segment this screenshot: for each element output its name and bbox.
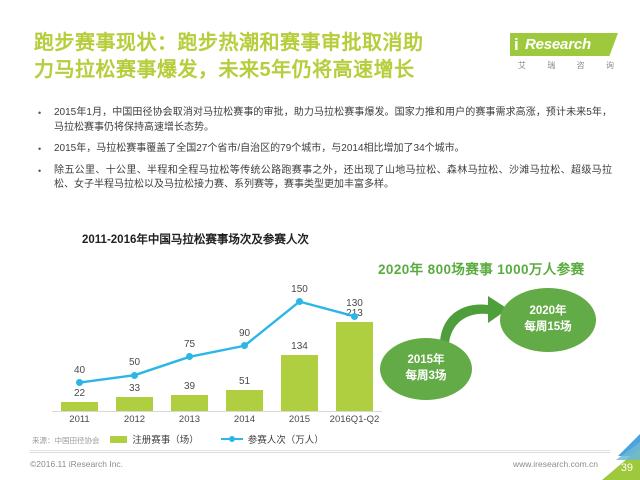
chart-line-value-label: 150 [291, 284, 308, 295]
logo-letter-i: i [514, 34, 519, 55]
chart-title: 2011-2016年中国马拉松赛事场次及参赛人次 [82, 231, 309, 247]
chart-line-point-2011 [76, 379, 83, 386]
bullet-item: • 2015年1月，中国田径协会取消对马拉松赛事的审批，助力马拉松赛事爆发。国家… [34, 106, 612, 135]
callout-oval-2015: 2015年 每周3场 [380, 338, 472, 400]
footer-website-link[interactable]: www.iresearch.com.cn [513, 459, 598, 469]
oval-2015-line-1: 2015年 [407, 353, 444, 369]
bullet-marker-icon: • [34, 142, 54, 157]
legend-bar-label: 注册赛事（场） [132, 432, 199, 446]
legend-line-swatch-icon [221, 436, 243, 443]
chart-divider [30, 450, 610, 451]
chart-x-tick-2012: 2012 [105, 414, 165, 425]
logo-cn-char-2: 瑞 [547, 60, 555, 71]
chart-line-point-2016Q1-Q2 [351, 313, 358, 320]
footer-copyright: ©2016.11 iResearch Inc. [30, 459, 123, 469]
slide-header: 跑步赛事现状：跑步热潮和赛事审批取消助 力马拉松赛事爆发，未来5年仍将高速增长 … [0, 0, 640, 92]
chart-line-point-2012 [131, 372, 138, 379]
corner-decoration-icon [594, 434, 640, 480]
logo-cn-char-3: 咨 [577, 60, 585, 71]
chart-x-tick-2016Q1-Q2: 2016Q1-Q2 [325, 414, 385, 425]
chart-x-tick-2014: 2014 [215, 414, 275, 425]
logo-wordmark: Research [525, 35, 591, 54]
logo-mark: i Research [510, 33, 618, 56]
chart-legend: 注册赛事（场） 参赛人次（万人） [52, 432, 382, 446]
bullet-marker-icon: • [34, 106, 54, 135]
chart-x-tick-2011: 2011 [50, 414, 110, 425]
legend-bar-swatch-icon [110, 436, 127, 443]
callout-headline: 2020年 800场赛事 1000万人参赛 [378, 258, 618, 278]
chart-line-value-label: 40 [74, 365, 85, 376]
bullet-list: • 2015年1月，中国田径协会取消对马拉松赛事的审批，助力马拉松赛事爆发。国家… [34, 106, 612, 200]
page-title-line-1: 跑步赛事现状：跑步热潮和赛事审批取消助 [34, 30, 504, 57]
page-number: 39 [621, 462, 633, 474]
chart-line-value-label: 90 [239, 328, 250, 339]
oval-2015-line-2: 每周3场 [406, 369, 447, 385]
page-title: 跑步赛事现状：跑步热潮和赛事审批取消助 力马拉松赛事爆发，未来5年仍将高速增长 [34, 30, 504, 84]
bullet-text: 2015年1月，中国田径协会取消对马拉松赛事的审批，助力马拉松赛事爆发。国家力推… [54, 106, 612, 135]
logo-chinese-name: 艾 瑞 咨 询 [518, 60, 614, 71]
callout-oval-2020: 2020年 每周15场 [500, 288, 596, 352]
chart-plot-area: 22333951134213 40507590150130 [52, 252, 382, 412]
legend-item-bar[interactable]: 注册赛事（场） [110, 432, 199, 446]
iresearch-logo: i Research 艾 瑞 咨 询 [510, 33, 618, 75]
oval-2020-line-2: 每周15场 [524, 320, 571, 336]
chart-line-value-label: 75 [184, 339, 195, 350]
chart-x-tick-2013: 2013 [160, 414, 220, 425]
chart-x-tick-2015: 2015 [270, 414, 330, 425]
bullet-item: • 2015年，马拉松赛事覆盖了全国27个省市/自治区的79个城市，与2014相… [34, 142, 612, 157]
page-title-line-2: 力马拉松赛事爆发，未来5年仍将高速增长 [34, 57, 504, 84]
bullet-text: 除五公里、十公里、半程和全程马拉松等传统公路跑赛事之外，还出现了山地马拉松、森林… [54, 164, 612, 193]
footer-divider [30, 452, 610, 453]
chart-line-value-label: 130 [346, 298, 363, 309]
chart-line-value-label: 50 [129, 357, 140, 368]
logo-cn-char-4: 询 [606, 60, 614, 71]
chart-source-note: 来源：中国田径协会 [32, 435, 100, 446]
legend-line-label: 参赛人次（万人） [248, 432, 324, 446]
chart-line-series [52, 252, 382, 412]
chart-x-axis-labels: 201120122013201420152016Q1-Q2 [52, 414, 382, 428]
oval-2020-line-1: 2020年 [529, 304, 566, 320]
bullet-marker-icon: • [34, 164, 54, 193]
bullet-item: • 除五公里、十公里、半程和全程马拉松等传统公路跑赛事之外，还出现了山地马拉松、… [34, 164, 612, 193]
legend-item-line[interactable]: 参赛人次（万人） [221, 432, 324, 446]
bullet-text: 2015年，马拉松赛事覆盖了全国27个省市/自治区的79个城市，与2014相比增… [54, 142, 612, 157]
logo-cn-char-1: 艾 [518, 60, 526, 71]
forecast-callout: 2020年 800场赛事 1000万人参赛 2015年 每周3场 2020年 每… [378, 246, 618, 426]
